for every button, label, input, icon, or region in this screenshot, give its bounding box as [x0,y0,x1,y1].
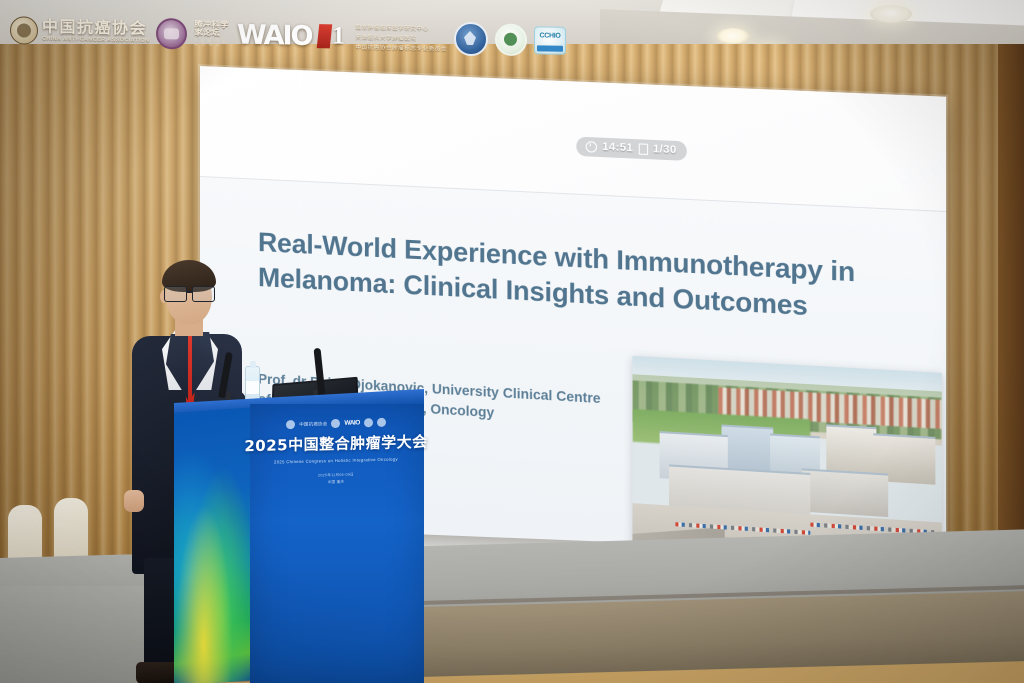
association-seal-icon [495,24,527,57]
downlight-icon [716,28,750,45]
podium-logo-label-cn: 中国抗癌协会 [299,421,327,428]
caca-label-en: CHINA ANTI-CANCER ASSOCIATION [42,37,149,45]
institution-line-3: 中国抗癌协会肿瘤标志专业委员会 [355,43,447,53]
conference-photo: 中国抗癌协会 CHINA ANTI-CANCER ASSOCIATION 腾冲科… [0,0,1024,683]
tengchong-label-en: T E N G C H O N G [194,39,230,48]
tengchong-label-cn: 腾冲科学家论坛 [194,21,230,38]
podium: 中国抗癌协会 WAIO 2025中国整合肿瘤学大会 2025 Chinese C… [174,404,424,683]
page-icon [638,143,647,155]
institution-line-1: 国家肿瘤临床医学研究中心 [355,23,447,33]
glasses-icon [163,286,215,301]
podium-seal-icon [286,420,295,429]
podium-seal-icon [377,418,386,427]
podium-seal-icon [364,418,373,427]
podium-seal-icon [331,419,340,428]
logo-china-anti-cancer-association: 中国抗癌协会 CHINA ANTI-CANCER ASSOCIATION [10,16,149,47]
waio-logo: WAIO [237,21,311,49]
podium-logo-row: 中国抗癌协会 WAIO [286,417,386,430]
cchio-seal-icon: CCHIO [534,26,566,55]
tengchong-seal-icon [156,18,187,50]
podium-date: 2025年11月06-09日 [318,473,354,479]
logo-tengchong-forum: 腾冲科学家论坛 T E N G C H O N G [194,21,230,48]
downlight-icon [870,5,912,23]
institution-text-block: 国家肿瘤临床医学研究中心 天津医科大学肿瘤医院 中国抗癌协会肿瘤标志专业委员会 [355,23,447,53]
clock-icon [586,141,597,153]
cchio-label: CCHIO [535,32,565,40]
number-one-emblem-icon: 1 [318,21,348,52]
number-one-label: 1 [332,22,345,50]
podium-waio-label: WAIO [344,419,359,426]
slide-counter: 1/30 [653,143,677,156]
top-sponsor-banner: 中国抗癌协会 CHINA ANTI-CANCER ASSOCIATION 腾冲科… [0,4,566,67]
presentation-timer-badge: 14:51 1/30 [576,137,687,161]
podium-side-panel [174,407,252,683]
university-seal-icon [454,22,488,57]
podium-title-en: 2025 Chinese Congress on Holistic Integr… [274,456,398,464]
podium-title-cn: 2025中国整合肿瘤学大会 [244,431,427,456]
institution-line-2: 天津医科大学肿瘤医院 [355,33,447,43]
caca-seal-icon [10,16,38,45]
podium-banner: 中国抗癌协会 WAIO 2025中国整合肿瘤学大会 2025 Chinese C… [260,416,412,502]
elapsed-time: 14:51 [602,141,633,155]
caca-label-cn: 中国抗癌协会 [42,19,149,37]
podium-place: 中国 重庆 [328,480,345,485]
